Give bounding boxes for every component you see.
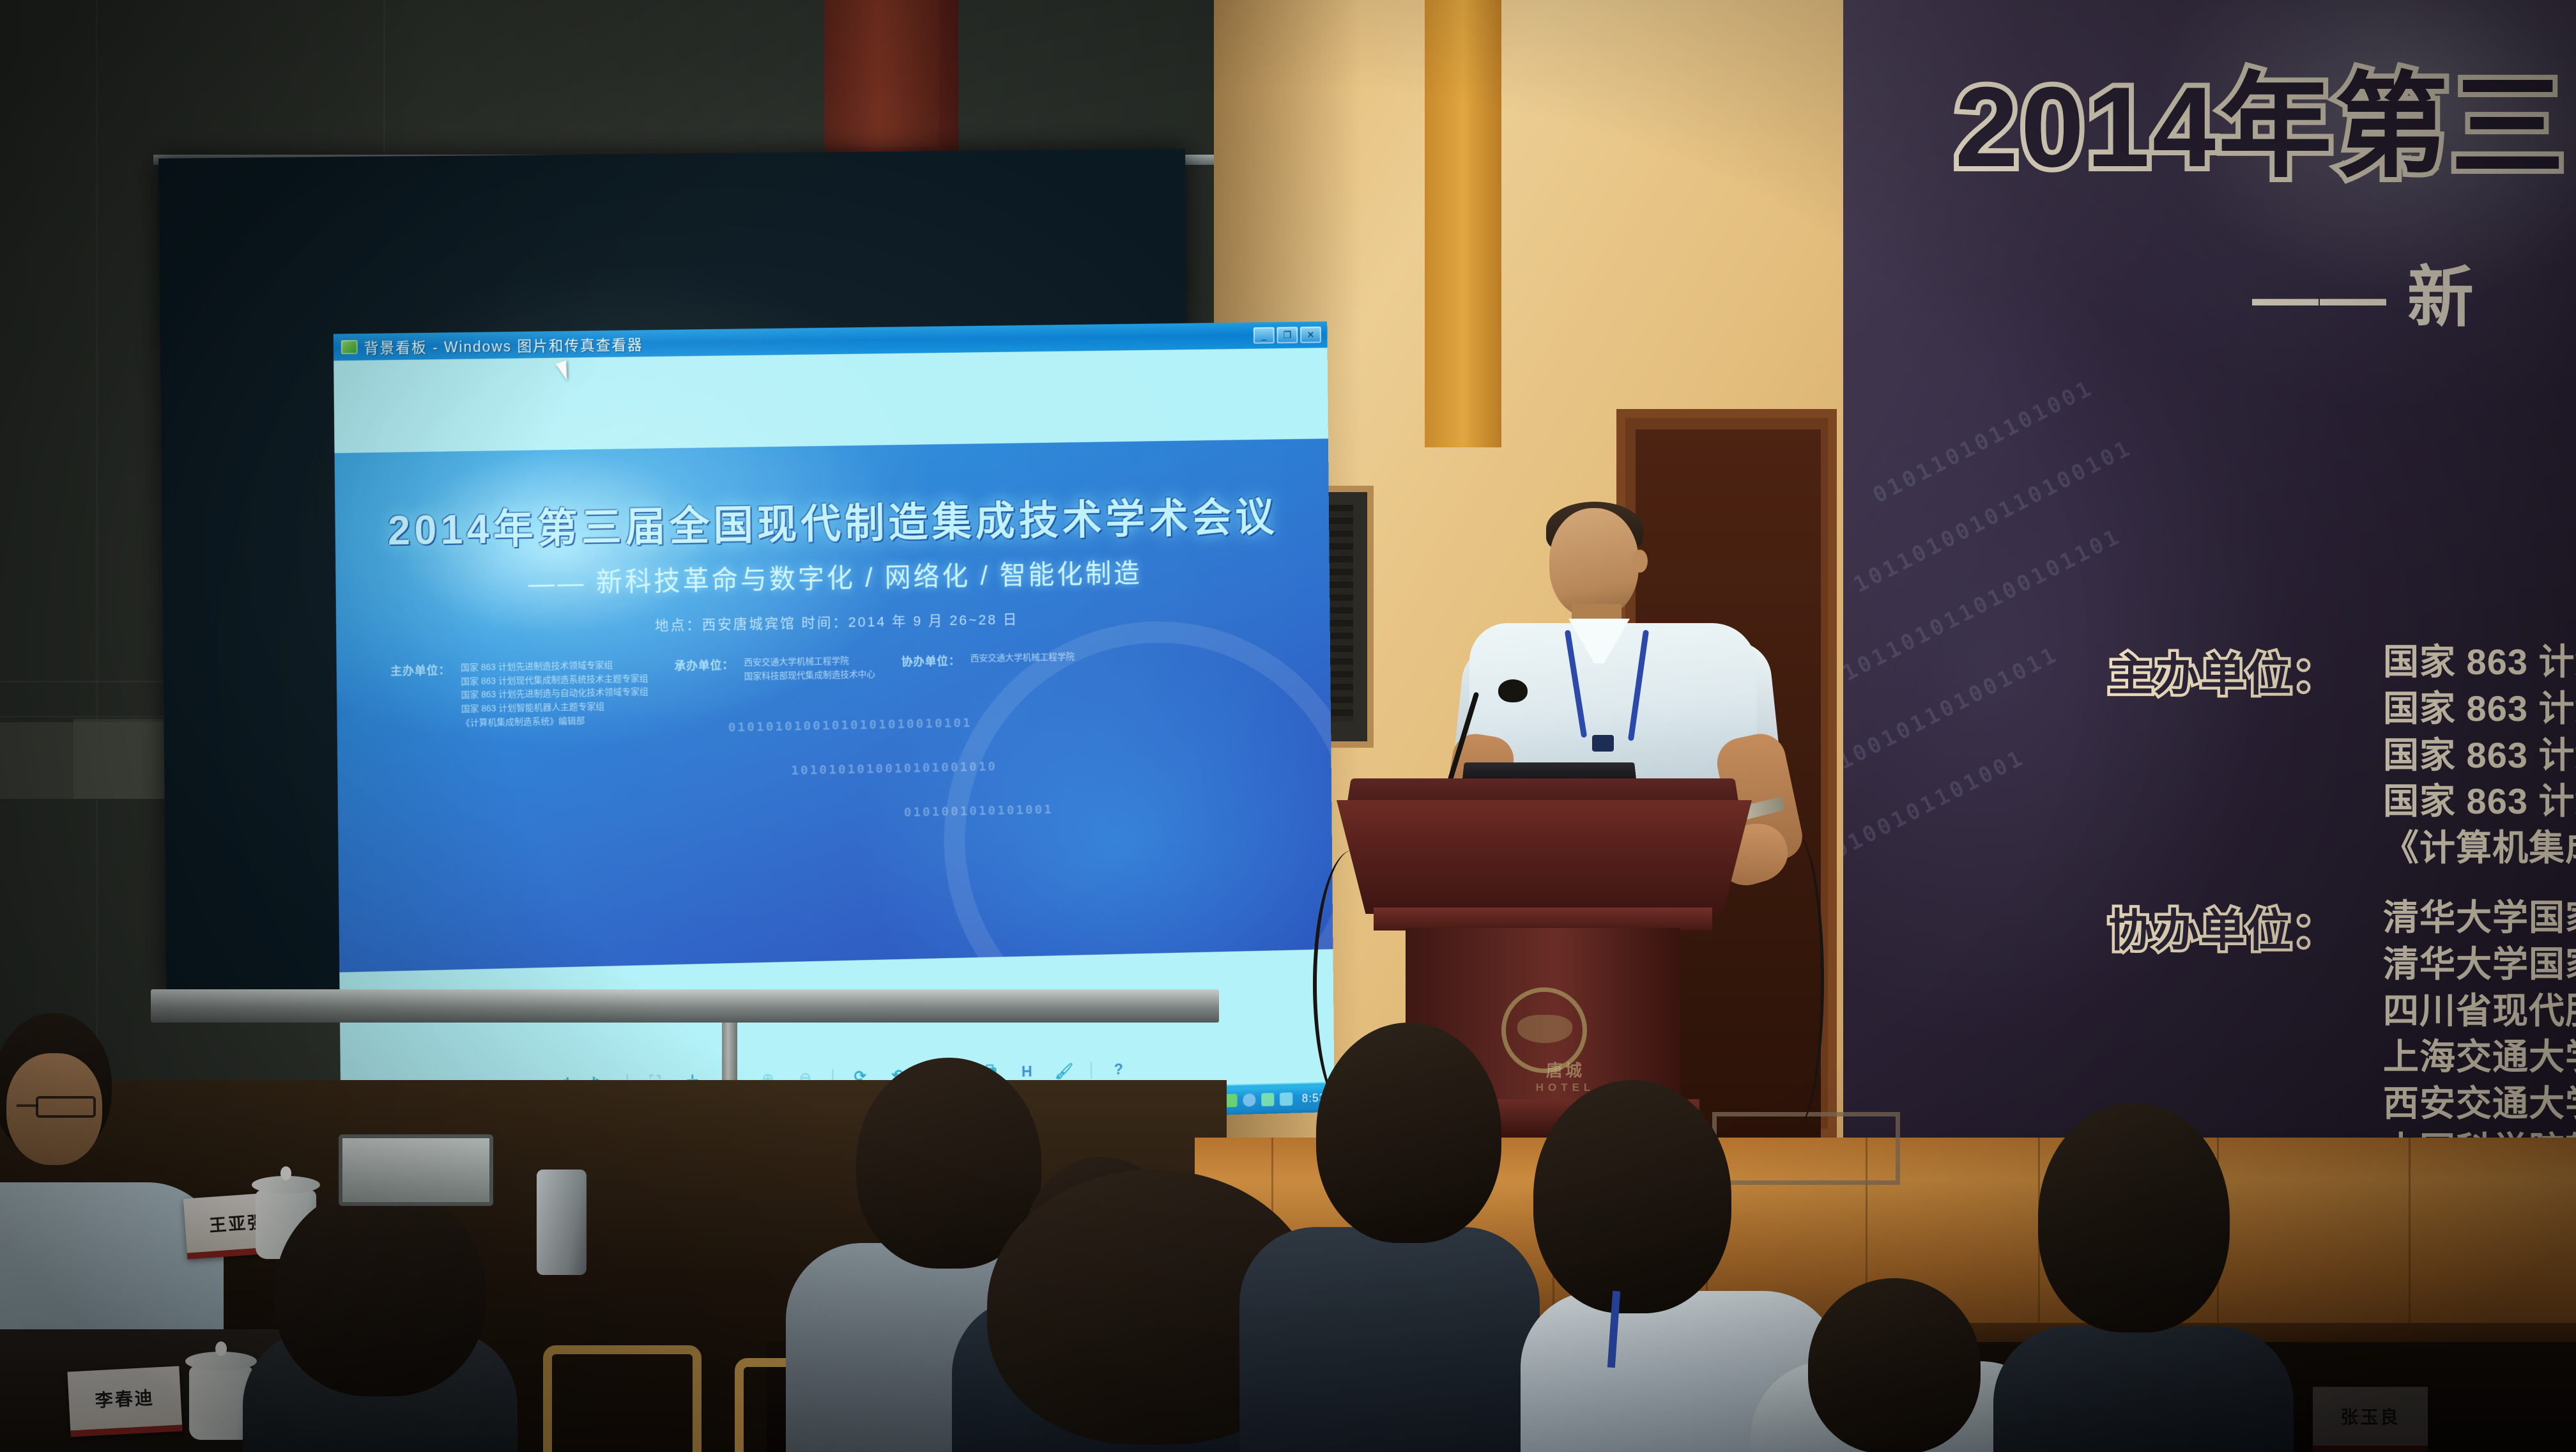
maximize-button[interactable]: ❐ [1276,327,1298,343]
picture-viewer-icon [341,340,358,354]
slide-organizer-group: 协办单位： 西安交通大学机械工程学院 [901,650,1075,722]
help-icon[interactable]: ? [1108,1059,1129,1081]
slide-organizer-group: 主办单位： 国家 863 计划先进制造技术领域专家组 国家 863 计划现代集成… [390,658,648,731]
floor-monitor [339,1134,493,1206]
organizer-line: 西安交通大学机械工程学院 [970,650,1075,665]
banner-group-label: 协办单位： [2108,895,2338,959]
banner-group-organizers: 主办单位： 国家 863 计划先进 国家 863 计划先进 国家 863 计划先… [2108,639,2576,872]
podium-body [1337,800,1752,914]
banner-line: 国家 863 计划先进 [2383,686,2576,732]
projection-screen: 背景看板 - Windows 图片和传真查看器 _ ❐ ✕ 0101010100… [158,149,1193,996]
speaker-ear [1632,550,1648,573]
banner-group-lines: 国家 863 计划先进 国家 863 计划先进 国家 863 计划先进 国家 8… [2383,639,2576,872]
banner-line: 上海交通大学CIMS研究所 [2383,1034,2576,1081]
mouse-cursor-icon [556,360,572,382]
banner-line: 四川省现代服务科技研究 [2383,988,2576,1035]
organizer-label: 协办单位： [901,652,962,722]
slide-binary-row: 0101001010101001 [904,801,1054,820]
slide-organizer-group: 承办单位： 西安交通大学机械工程学院 国家科技部现代集成制造技术中心 [674,654,875,726]
audience-head [1808,1278,1981,1452]
eyeglasses-icon [36,1096,96,1118]
window-title: 背景看板 - Windows 图片和传真查看器 [364,332,643,357]
banner-line: 《计算机集成制造 [2383,825,2576,872]
drink-can [537,1170,586,1275]
conference-backdrop-banner: 010110101101001 1011010010110100101 0101… [1843,0,2576,1214]
wall-seam [96,0,98,1086]
speaker-head [1549,508,1639,618]
hotel-name-cn: 唐城 [1546,1061,1584,1080]
organizer-lines: 国家 863 计划先进制造技术领域专家组 国家 863 计划现代集成制造系统技术… [461,658,648,730]
microphone-icon [1498,679,1528,702]
input-method-icon[interactable] [1261,1093,1274,1106]
banner-title: 2014年第三 [1955,35,2567,199]
window-controls[interactable]: _ ❐ ✕ [1253,327,1324,344]
open-for-editing-icon[interactable]: 🖌 [1054,1060,1075,1082]
update-icon[interactable] [1243,1093,1255,1106]
banner-line: 国家 863 计划先进 [2383,732,2576,779]
screen-bottom-bar [151,989,1219,1023]
name-card-front-left: 李春迪 [67,1366,182,1437]
audience-shoulders [1993,1326,2294,1452]
podium-shelf [1374,907,1712,931]
slide-title: 2014年第三届全国现代制造集成技术学术会议 [335,484,1329,558]
banner-line: 清华大学国家CIMS工程技 [2383,895,2576,941]
audience-head [275,1186,486,1396]
banner-line: 国家 863 计划先进 [2383,639,2576,686]
speaker-badge [1592,735,1614,752]
banner-subtitle: —— 新 [2252,243,2475,339]
organizer-lines: 西安交通大学机械工程学院 [970,650,1075,720]
slide-subtitle: —— 新科技革命与数字化 / 网络化 / 智能化制造 [335,549,1330,604]
minimize-button[interactable]: _ [1253,327,1275,344]
name-card-mid: 张玉良 [2313,1387,2428,1452]
banquet-chair [543,1345,701,1452]
conference-title-slide: 01010101001010101010010101 1010101010010… [335,438,1333,972]
organizer-lines: 西安交通大学机械工程学院 国家科技部现代集成制造技术中心 [744,654,875,725]
audience-head [1316,1023,1501,1243]
audience-shoulders [1239,1227,1540,1452]
banner-line: 国家 863 计划智能 [2383,778,2576,825]
photo-scene: 010110101101001 1011010010110100101 0101… [0,0,2576,1452]
close-button[interactable]: ✕ [1300,327,1321,343]
audience-head [2038,1102,2230,1332]
organizer-line: 国家科技部现代集成制造技术中心 [744,667,875,683]
organizer-label: 承办单位： [674,656,734,726]
banner-group-label: 主办单位： [2108,639,2338,704]
banner-line: 清华大学国家企业信息化 [2383,941,2576,988]
organizer-label: 主办单位： [390,661,451,732]
organizer-line: 《计算机集成制造系统》编辑部 [461,713,648,730]
audience-head [1533,1080,1731,1313]
toolbar-separator [1091,1062,1092,1079]
orange-wall-strip [1425,0,1501,447]
banner-line: 西安交通大学制造系统与 [2383,1081,2576,1127]
stage-rail [1712,1112,1900,1185]
language-bar-icon[interactable] [1280,1092,1292,1106]
